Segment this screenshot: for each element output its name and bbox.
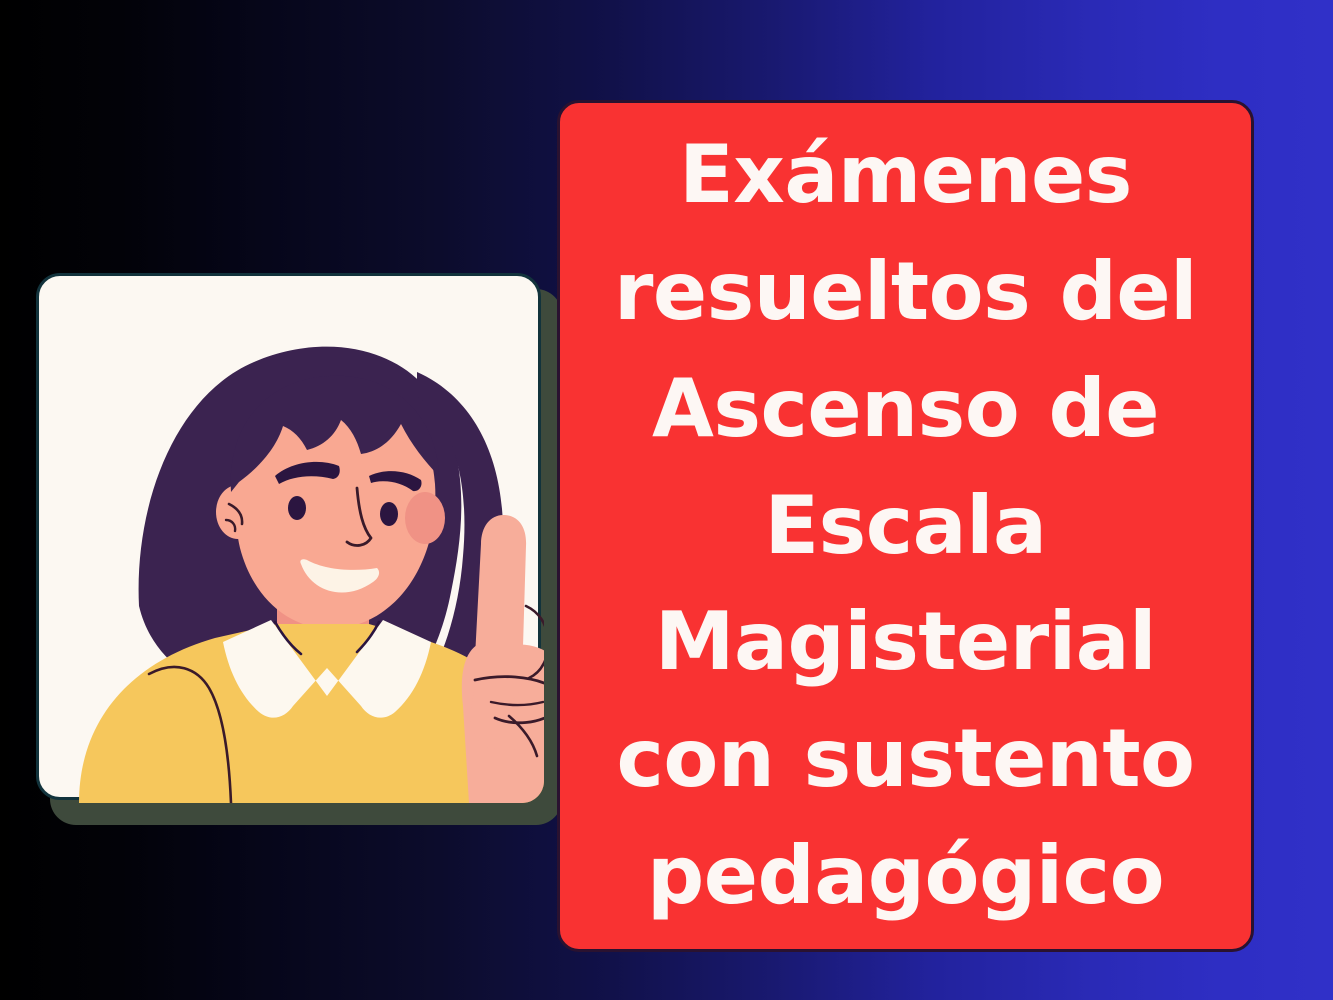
headline-card: Exámenes resueltos del Ascenso de Escala… bbox=[557, 100, 1254, 952]
page-title: Exámenes resueltos del Ascenso de Escala… bbox=[586, 117, 1225, 935]
right-eye bbox=[380, 502, 398, 526]
poster-canvas: Exámenes resueltos del Ascenso de Escala… bbox=[0, 0, 1333, 1000]
left-eye bbox=[288, 496, 306, 520]
illustration-card-frame bbox=[36, 273, 541, 800]
woman-pointing-icon bbox=[39, 276, 544, 803]
illustration-clip-area bbox=[39, 276, 544, 803]
illustration-card bbox=[36, 273, 548, 809]
